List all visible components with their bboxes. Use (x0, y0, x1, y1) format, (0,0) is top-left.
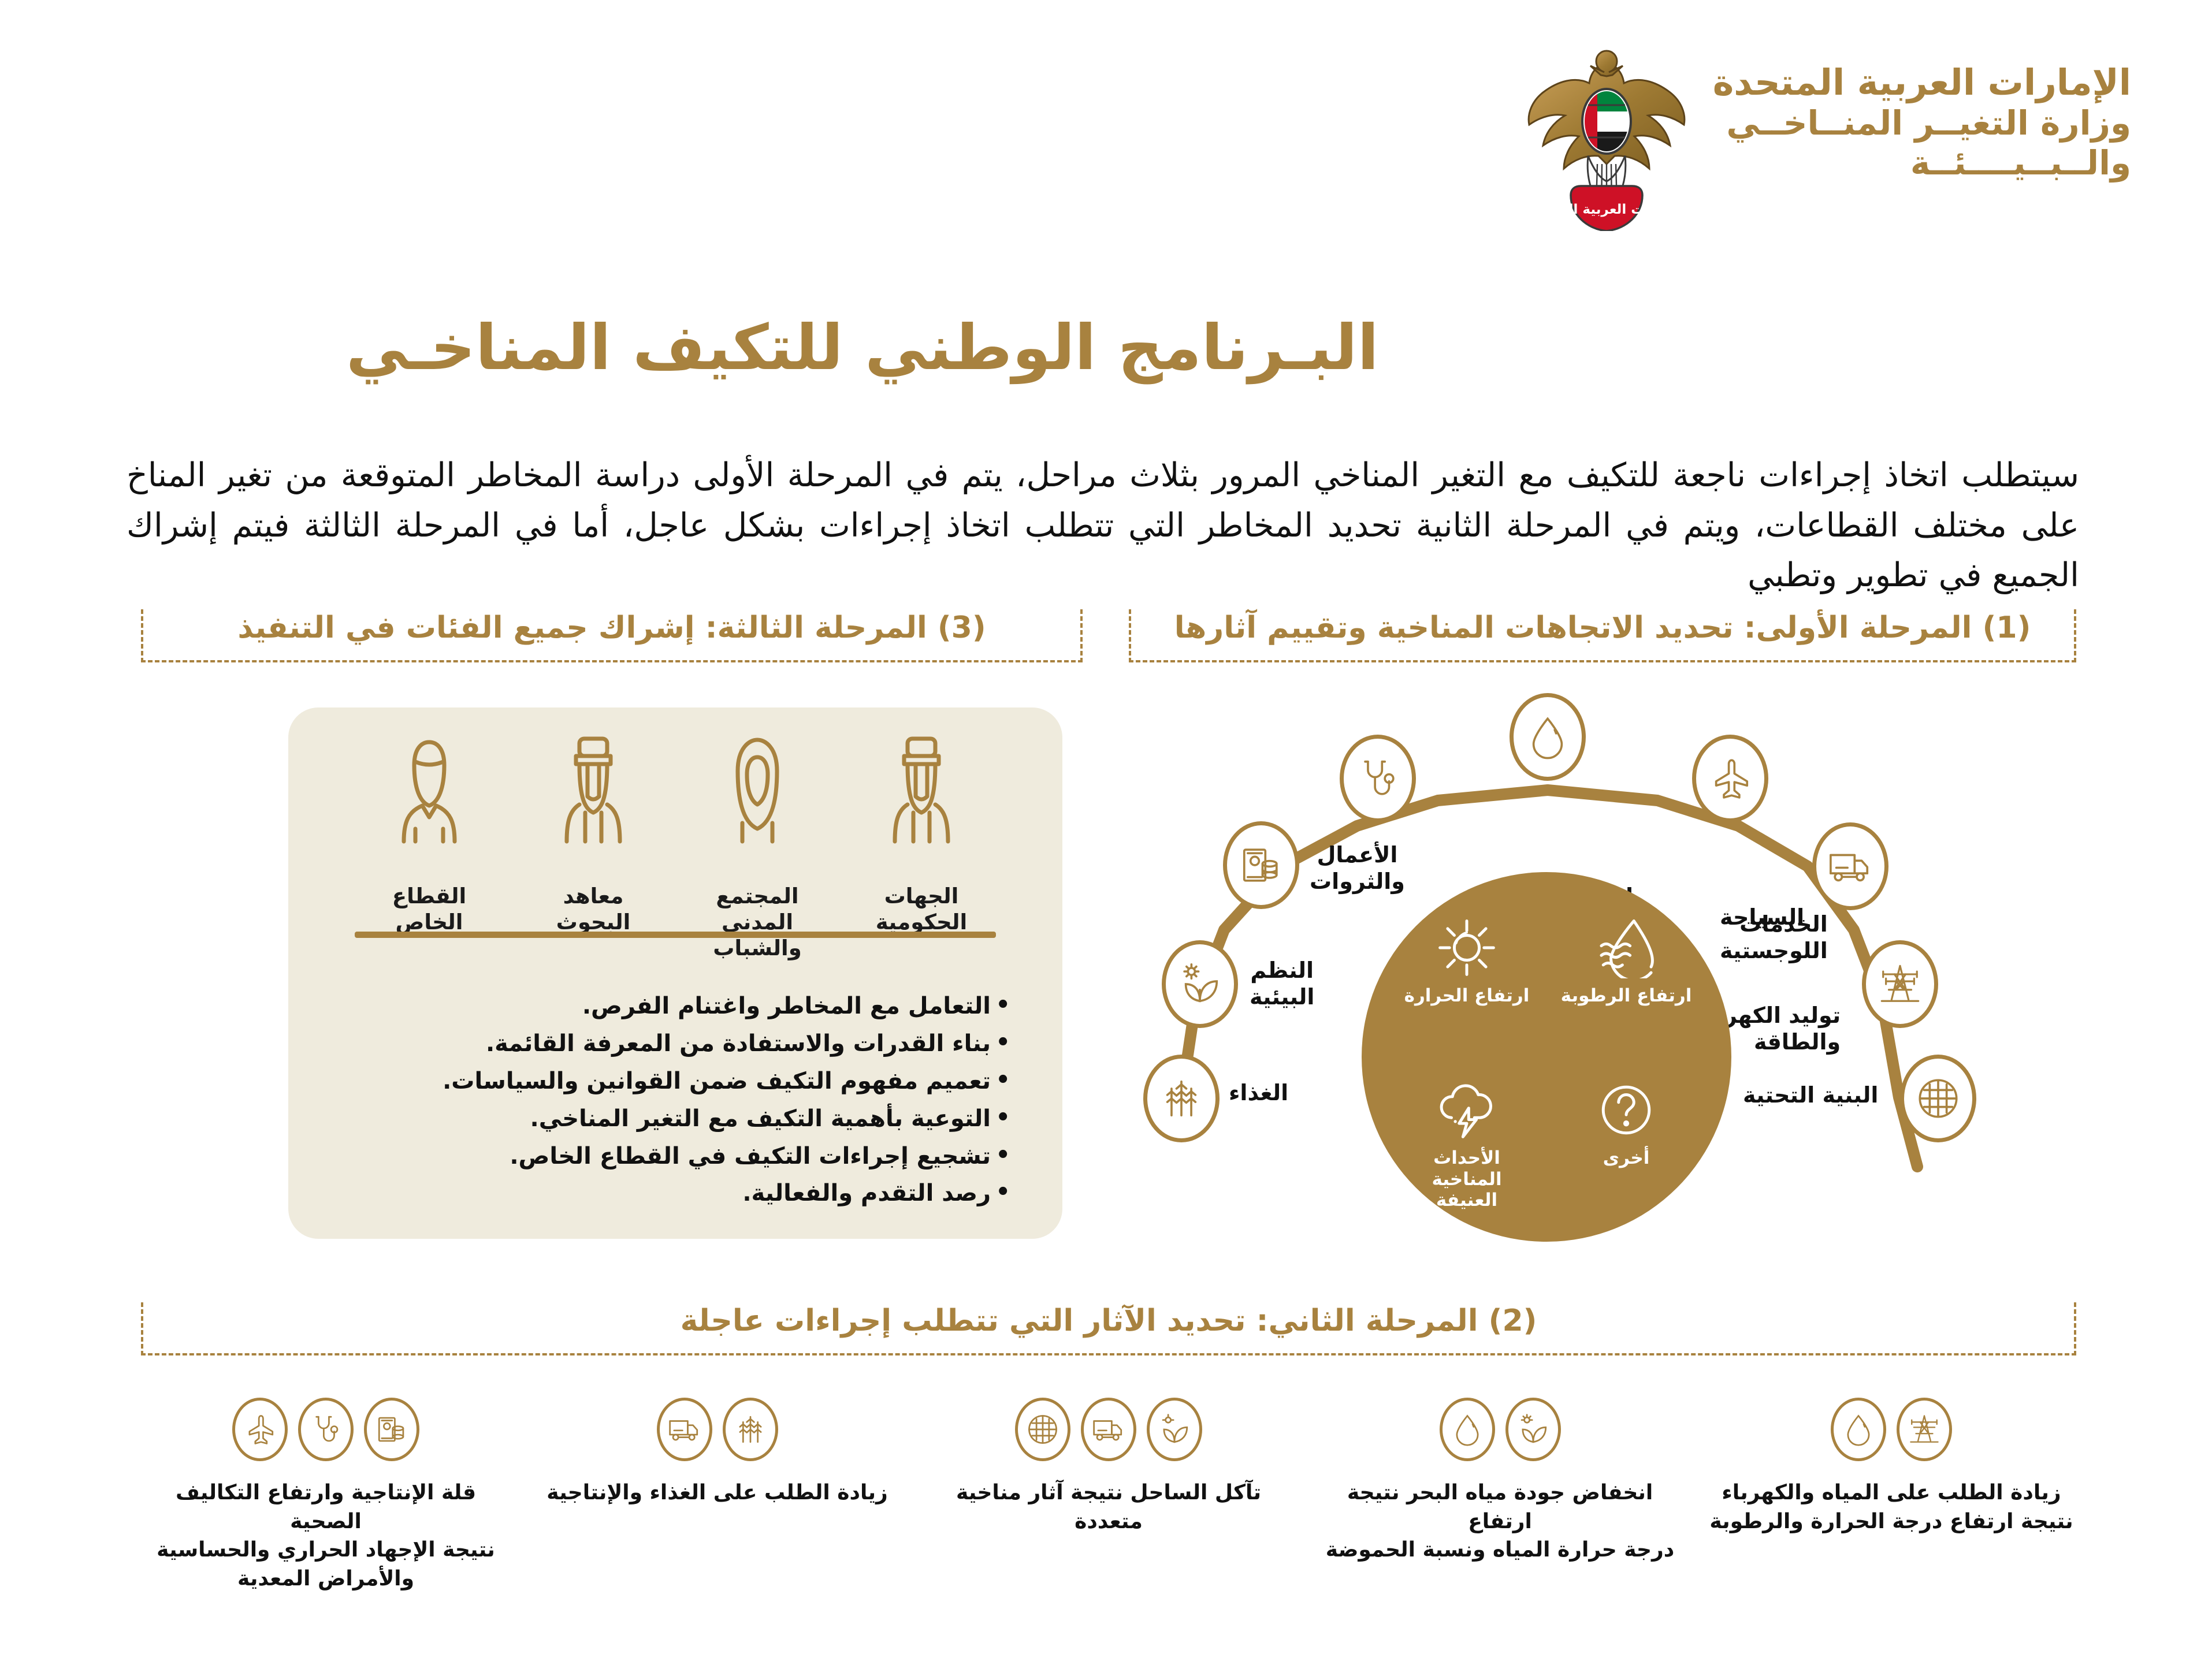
impact-icon-wheat (723, 1398, 778, 1461)
impact-icon-stethoscope (298, 1398, 354, 1461)
impact-text: انخفاض جودة مياه البحر نتيجة ارتفاع درجة… (1315, 1478, 1685, 1565)
impact-text: قلة الإنتاجية وارتفاع التكاليف الصحية نت… (141, 1478, 511, 1593)
impact-icons (1015, 1398, 1202, 1461)
intro-text: سيتطلب اتخاذ إجراءات ناجعة للتكيف مع الت… (127, 450, 2079, 601)
impact-icons (1440, 1398, 1561, 1461)
stage-3-card: الجهات الحكومية المجتمع المدني والشباب (288, 707, 1062, 1239)
hazard-label-other: أخرى (1603, 1148, 1650, 1169)
figure-private-sector: القطاع الخاص (354, 736, 504, 961)
water-waves-drop-icon (1596, 917, 1657, 978)
stage-2-header: (2) المرحلة الثاني: تحديد الآثار التي تت… (141, 1302, 2076, 1355)
list-item: تشجيع إجراءات التكيف في القطاع الخاص. (340, 1138, 1010, 1175)
impact-productivity-health-costs: قلة الإنتاجية وارتفاع التكاليف الصحية نت… (141, 1398, 511, 1593)
impact-icon-plant-sun (1505, 1398, 1561, 1461)
impact-text: تآكل الساحل نتيجة آثار مناخية متعددة (924, 1478, 1293, 1536)
impact-text: زيادة الطلب على المياه والكهرباء نتيجة ا… (1709, 1478, 2073, 1536)
uae-emblem-icon: الإمارات العربية المتحدة (1520, 40, 1693, 231)
infrastructure-icon (1916, 1076, 1961, 1121)
research-person-icon (553, 736, 634, 858)
sector-node-energy[interactable] (1862, 940, 1938, 1028)
private-sector-person-icon (389, 736, 470, 858)
impact-icon-infrastructure (1015, 1398, 1070, 1461)
airplane-icon (243, 1413, 277, 1446)
impact-text: زيادة الطلب على الغذاء والإنتاجية (547, 1478, 888, 1507)
impact-icon-water-drop (1440, 1398, 1495, 1461)
impact-icon-airplane (232, 1398, 288, 1461)
ministry-name: الإمارات العربية المتحدة وزارة التغيــر … (1713, 40, 2131, 183)
list-item: تعميم مفهوم التكيف ضمن القوانين والسياسا… (340, 1063, 1010, 1100)
page-title: البـرنامج الوطني للتكيف المناخـي (103, 312, 2096, 384)
hazard-label-severe-events: الأحداث المناخية العنيفة (1432, 1148, 1501, 1211)
plant-sun-icon (1177, 962, 1222, 1007)
sun-icon (1436, 917, 1497, 978)
youth-person-icon (717, 736, 798, 858)
storm-cloud-icon (1436, 1079, 1497, 1141)
sector-node-ecosystems[interactable] (1162, 940, 1238, 1028)
airplane-icon (1708, 756, 1753, 801)
impact-coastal-erosion: تآكل الساحل نتيجة آثار مناخية متعددة (924, 1398, 1293, 1593)
ground-line (355, 932, 996, 938)
water-drop-icon (1842, 1413, 1875, 1446)
list-item: التوعية بأهمية التكيف مع التغير المناخي. (340, 1100, 1010, 1138)
sector-label-food: الغذاء (1229, 1080, 1288, 1107)
impact-icon-plant-sun (1147, 1398, 1202, 1461)
plant-sun-icon (1158, 1413, 1191, 1446)
ministry-line-2: وزارة التغيــر المنــاخــي (1713, 103, 2131, 143)
stethoscope-icon (1355, 756, 1400, 801)
figure-label-private-sector: القطاع الخاص (392, 883, 466, 935)
sector-node-logistics[interactable] (1812, 822, 1888, 910)
stage-1-arc-diagram: الغذاء النظم البيئية (1109, 681, 2079, 1259)
wheat-icon (734, 1413, 767, 1446)
ministry-line-1: الإمارات العربية المتحدة (1713, 61, 2131, 103)
intro-paragraph: سيتطلب اتخاذ إجراءات ناجعة للتكيف مع الت… (127, 450, 2079, 601)
figure-label-research: معاهد البحوث (556, 883, 631, 935)
sector-label-infrastructure: البنية التحتية (1743, 1082, 1878, 1109)
hazard-severe-events: الأحداث المناخية العنيفة (1397, 1079, 1536, 1211)
hazard-heat: ارتفاع الحرارة (1397, 917, 1536, 1007)
list-item: التعامل مع المخاطر واغتنام الفرص. (340, 988, 1010, 1025)
stage-2-impacts: زيادة الطلب على المياه والكهرباء نتيجة ا… (141, 1398, 2076, 1593)
stage-3-bullets: التعامل مع المخاطر واغتنام الفرص. بناء ا… (288, 988, 1062, 1212)
impact-icons (232, 1398, 419, 1461)
impact-icon-truck (1081, 1398, 1136, 1461)
ministry-line-3: والــبــيــــئــة (1713, 143, 2131, 183)
money-icon (375, 1413, 408, 1446)
power-tower-icon (1908, 1413, 1941, 1446)
sector-label-ecosystems: النظم البيئية (1250, 958, 1314, 1010)
government-person-icon (881, 736, 962, 858)
money-icon (1239, 843, 1284, 888)
impact-icon-power-tower (1897, 1398, 1952, 1461)
figure-label-civil-society: المجتمع المدني والشباب (682, 883, 832, 961)
impact-sea-water-quality: انخفاض جودة مياه البحر نتيجة ارتفاع درجة… (1315, 1398, 1685, 1593)
impact-icon-water-drop (1831, 1398, 1886, 1461)
infographic-page: الإمارات العربية المتحدة الإمارات العربي… (0, 0, 2212, 1661)
impact-icon-truck (657, 1398, 712, 1461)
figure-label-government: الجهات الحكومية (876, 883, 967, 935)
sector-node-business[interactable] (1223, 821, 1299, 909)
sector-node-health[interactable] (1340, 735, 1416, 822)
power-tower-icon (1878, 962, 1923, 1007)
truck-icon (1092, 1413, 1125, 1446)
stethoscope-icon (309, 1413, 343, 1446)
sector-node-food[interactable] (1143, 1055, 1220, 1142)
wheat-icon (1159, 1076, 1204, 1121)
stage-1-header: (1) المرحلة الأولى: تحديد الاتجاهات المن… (1129, 609, 2076, 662)
sector-label-business: الأعمال والثروات (1310, 842, 1405, 895)
sector-node-infrastructure[interactable] (1900, 1055, 1976, 1142)
stakeholder-figures: الجهات الحكومية المجتمع المدني والشباب (288, 707, 1062, 961)
infrastructure-icon (1026, 1413, 1059, 1446)
list-item: بناء القدرات والاستفادة من المعرفة القائ… (340, 1025, 1010, 1063)
water-drop-icon (1451, 1413, 1484, 1446)
plant-sun-icon (1516, 1413, 1550, 1446)
impact-icons (1831, 1398, 1952, 1461)
impact-water-electricity-demand: زيادة الطلب على المياه والكهرباء نتيجة ا… (1707, 1398, 2076, 1593)
impact-icons (657, 1398, 778, 1461)
water-drop-icon (1525, 714, 1570, 759)
hazard-label-humidity: ارتفاع الرطوبة (1561, 985, 1692, 1007)
figure-research: معاهد البحوث (518, 736, 668, 961)
list-item: رصد التقدم والفعالية. (340, 1175, 1010, 1212)
truck-icon (668, 1413, 701, 1446)
hazard-label-heat: ارتفاع الحرارة (1404, 985, 1530, 1007)
climate-hazards-core: ارتفاع الرطوبة ارتفاع الحرارة (1362, 872, 1731, 1242)
sector-node-water[interactable] (1510, 693, 1586, 781)
figure-government: الجهات الحكومية (846, 736, 997, 961)
question-mark-icon (1596, 1079, 1657, 1141)
sector-node-tourism[interactable] (1692, 735, 1768, 822)
hazard-humidity: ارتفاع الرطوبة (1557, 917, 1696, 1007)
stage-3-header: (3) المرحلة الثالثة: إشراك جميع الفئات ف… (141, 609, 1083, 662)
ministry-header: الإمارات العربية المتحدة الإمارات العربي… (1520, 40, 2131, 231)
truck-icon (1828, 844, 1873, 889)
figure-civil-society: المجتمع المدني والشباب (682, 736, 832, 961)
svg-text:الإمارات العربية المتحدة: الإمارات العربية المتحدة (1529, 202, 1684, 217)
hazard-other: أخرى (1557, 1079, 1696, 1169)
impact-icon-money (364, 1398, 419, 1461)
sector-label-logistics: الخدمات اللوجستية (1720, 911, 1828, 964)
impact-food-demand: زيادة الطلب على الغذاء والإنتاجية (533, 1398, 902, 1593)
